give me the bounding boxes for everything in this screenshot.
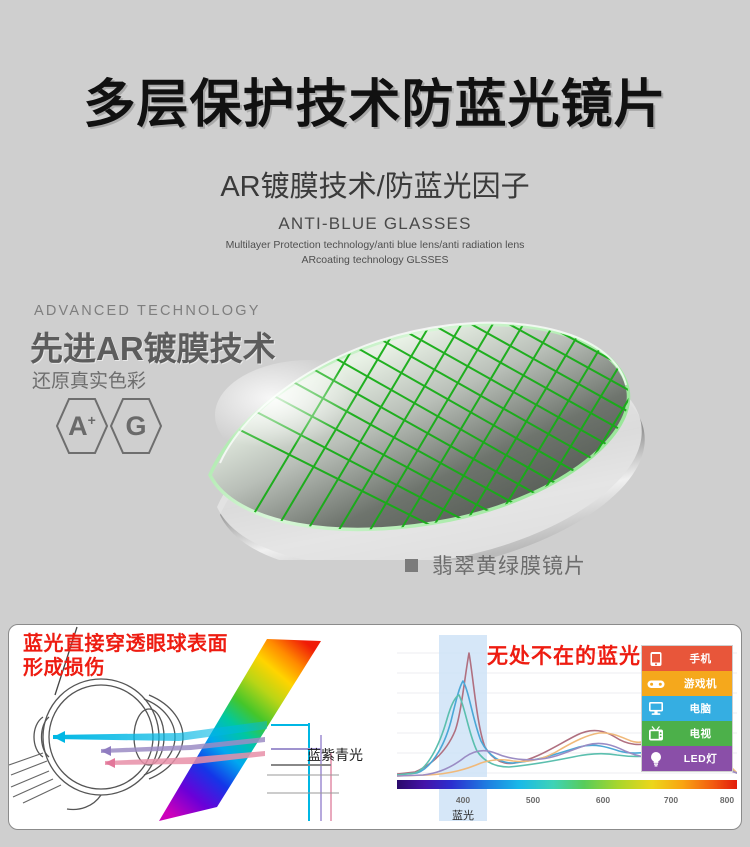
bulb-icon [642, 746, 669, 771]
page-subtitle: AR镀膜技术/防蓝光因子 [0, 163, 750, 205]
lens-caption: 翡翠黄绿膜镜片 [405, 550, 586, 580]
tv-icon [642, 721, 669, 746]
monitor-icon [642, 696, 669, 721]
device-legend: 手机 游戏机 电脑 电视 [641, 645, 733, 772]
blue-light-info-panel: 蓝光直接穿透眼球表面 形成损伤 [8, 624, 742, 830]
legend-label-tv: 电视 [669, 721, 732, 746]
prism-label: 蓝紫青光 [307, 745, 363, 765]
legend-item-led-lamp: LED灯 [642, 746, 732, 771]
english-line-1: Multilayer Protection technology/anti bl… [0, 239, 750, 251]
legend-label-game-console: 游戏机 [669, 671, 732, 696]
legend-item-phone: 手机 [642, 646, 732, 671]
advanced-technology-subheading: 还原真实色彩 [32, 366, 146, 393]
phone-icon [642, 646, 669, 671]
a-plus-badge-label: A+ [68, 413, 96, 440]
certification-badges: A+ G [56, 397, 162, 455]
x-tick-500: 500 [526, 795, 540, 805]
legend-label-phone: 手机 [669, 646, 732, 671]
page-title: 多层保护技术防蓝光镜片 [0, 78, 750, 133]
gamepad-icon [642, 671, 669, 696]
g-badge-label: G [125, 413, 146, 440]
g-badge: G [110, 397, 162, 455]
legend-label-computer: 电脑 [669, 696, 732, 721]
bullet-square-icon [405, 559, 418, 572]
legend-item-game-console: 游戏机 [642, 671, 732, 696]
english-line-2: ARcoating technology GLSSES [0, 254, 750, 266]
product-detail-page: 多层保护技术防蓝光镜片 AR镀膜技术/防蓝光因子 ANTI-BLUE GLASS… [0, 0, 750, 847]
legend-item-tv: 电视 [642, 721, 732, 746]
legend-item-computer: 电脑 [642, 696, 732, 721]
lens-caption-label: 翡翠黄绿膜镜片 [432, 550, 586, 580]
blue-light-band-label: 蓝光 [452, 807, 474, 823]
x-tick-600: 600 [596, 795, 610, 805]
advanced-technology-eyebrow: ADVANCED TECHNOLOGY [34, 303, 261, 319]
ubiquitous-blue-light-headline: 无处不在的蓝光 [487, 640, 641, 670]
a-plus-badge: A+ [56, 397, 108, 455]
legend-label-led-lamp: LED灯 [669, 746, 732, 771]
advanced-technology-heading: 先进AR镀膜技术 [30, 322, 276, 370]
english-title: ANTI-BLUE GLASSES [0, 214, 750, 234]
x-tick-800: 800 [720, 795, 734, 805]
x-tick-700: 700 [664, 795, 678, 805]
x-tick-400: 400 [456, 795, 470, 805]
